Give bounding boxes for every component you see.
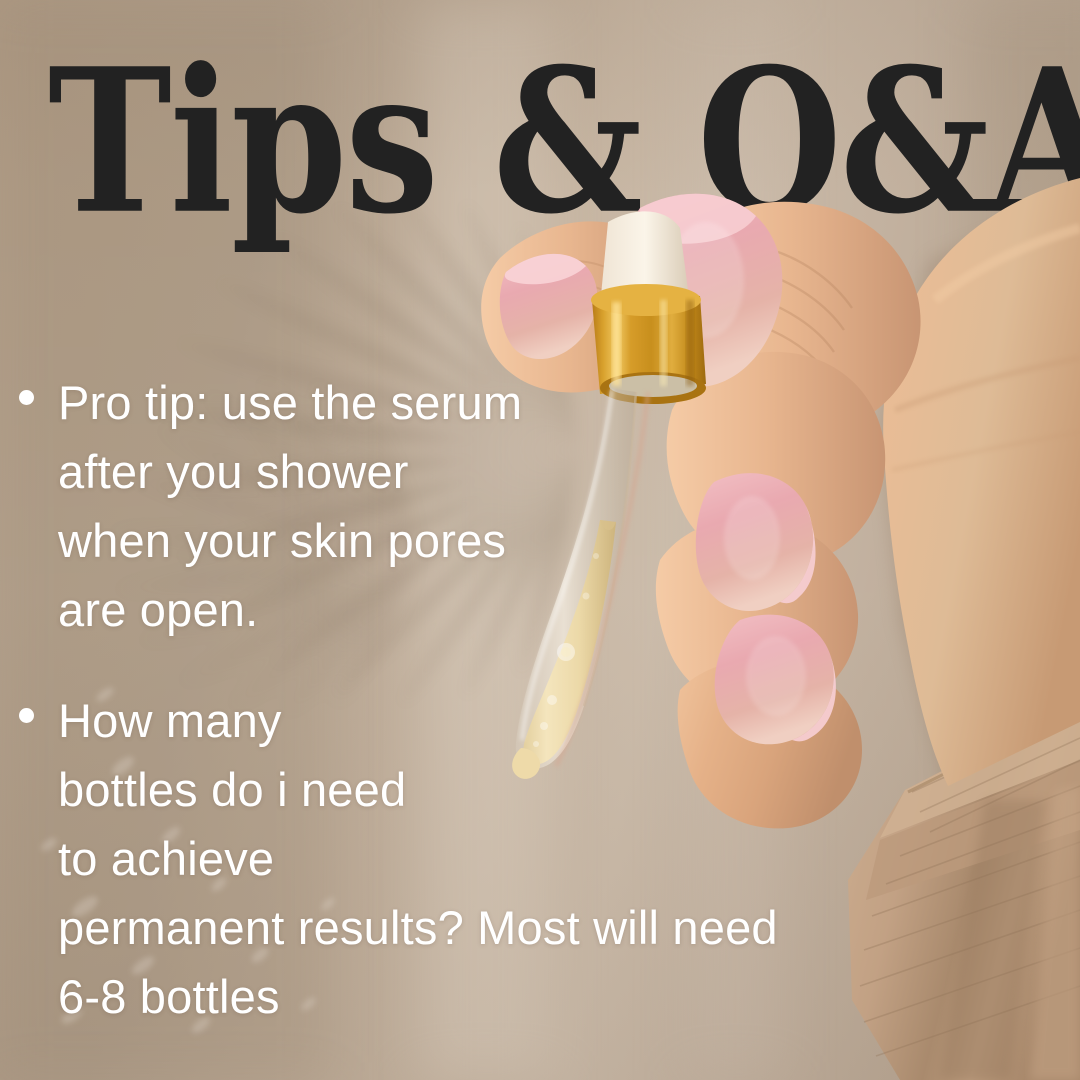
page-title: Tips & Q&A [48,42,1038,240]
bullet-dot-icon [19,708,34,723]
bullet-item-how-many-bottles: How many bottles do i need to achieve pe… [0,686,900,1031]
bullet-line: to achieve [58,824,900,893]
bullet-line: 6-8 bottles [58,962,900,1031]
social-post-canvas: Tips & Q&A [0,0,1080,1080]
bullet-line: are open. [58,575,900,644]
bullet-item-pro-tip: Pro tip: use the serum after you shower … [0,368,900,644]
bullet-line: bottles do i need [58,755,900,824]
bullet-line: after you shower [58,437,900,506]
bullet-line: when your skin pores [58,506,900,575]
bullet-line: Pro tip: use the serum [58,368,900,437]
bullet-line: permanent results? Most will need [58,893,900,962]
bullet-dot-icon [19,390,34,405]
bullet-copy: Pro tip: use the serum after you shower … [0,368,900,1073]
bullet-line: How many [58,686,900,755]
